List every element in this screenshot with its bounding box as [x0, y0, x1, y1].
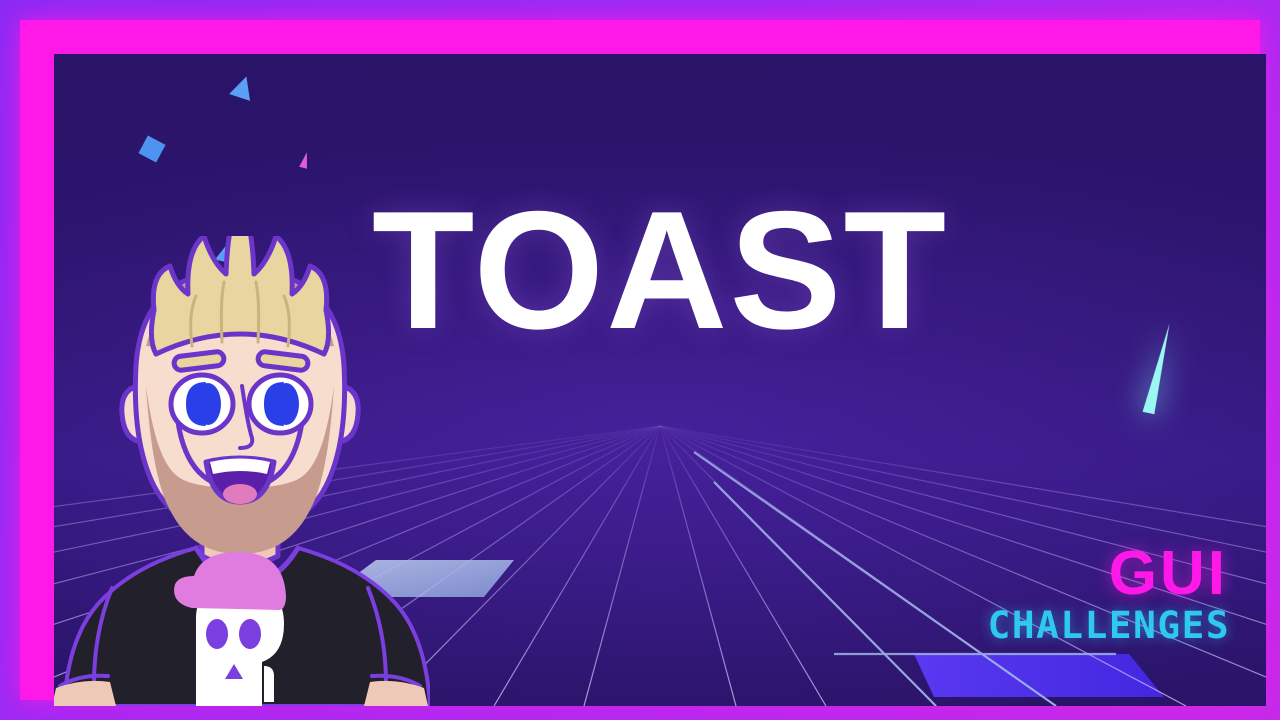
grid-cell-highlight-bottom-right — [914, 654, 1164, 697]
skull-eye-left — [206, 619, 228, 649]
host-avatar — [54, 236, 430, 706]
avatar-eyebrow-right — [257, 351, 308, 371]
skull-eye-right — [239, 619, 261, 649]
screen-area: TOAST GUI CHALLENGES — [54, 54, 1266, 706]
host-avatar-svg — [54, 236, 430, 706]
gui-challenges-logo: GUI CHALLENGES — [990, 545, 1228, 644]
avatar-hair — [151, 236, 328, 354]
neon-border-frame: TOAST GUI CHALLENGES — [20, 20, 1260, 700]
avatar-pupil-right — [273, 383, 299, 425]
logo-line-gui: GUI — [990, 545, 1228, 604]
logo-line-challenges: CHALLENGES — [988, 607, 1231, 644]
avatar-pupil-left — [195, 383, 221, 425]
skull-jaw-notch — [264, 666, 274, 702]
title-card-stage: TOAST GUI CHALLENGES — [0, 0, 1280, 720]
avatar-eyebrow-left — [173, 351, 224, 371]
avatar-tongue — [223, 484, 257, 504]
